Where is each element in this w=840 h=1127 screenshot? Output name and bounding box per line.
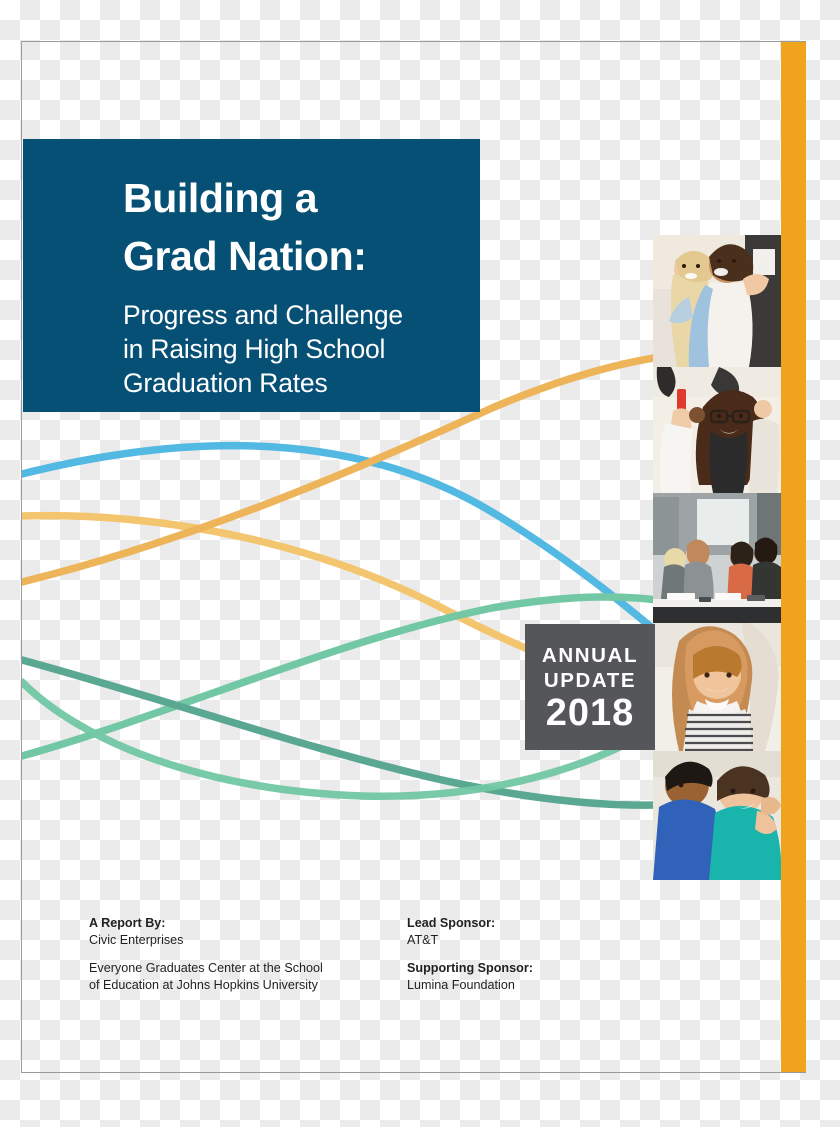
report-cover-page: Building a Grad Nation: Progress and Cha… xyxy=(21,41,806,1073)
report-title-line-2: Grad Nation: xyxy=(123,227,444,285)
credits-spacer-sponsors xyxy=(407,949,637,960)
report-by-secondary-line-2: of Education at Johns Hopkins University xyxy=(89,977,407,994)
photo-panel-students-group-study-table xyxy=(653,493,781,623)
lead-sponsor-label: Lead Sponsor: xyxy=(407,915,637,932)
title-block: Building a Grad Nation: Progress and Cha… xyxy=(23,139,480,412)
report-subtitle-line-2: in Raising High School xyxy=(123,333,444,367)
annual-update-badge: ANNUAL UPDATE 2018 xyxy=(525,624,655,750)
photo-panel-student-with-glasses-raising-hand xyxy=(653,367,781,493)
lead-sponsor-value: AT&T xyxy=(407,932,637,949)
report-by-secondary: Everyone Graduates Center at the School … xyxy=(89,960,407,994)
report-subtitle-line-3: Graduation Rates xyxy=(123,367,444,401)
supporting-sponsor-label: Supporting Sponsor: xyxy=(407,960,637,977)
credits-block: A Report By: Civic Enterprises Everyone … xyxy=(89,915,649,994)
report-by-value: Civic Enterprises xyxy=(89,932,407,949)
report-title-line-1: Building a xyxy=(123,169,444,227)
credits-spacer xyxy=(89,949,407,960)
report-by-label: A Report By: xyxy=(89,915,407,932)
report-subtitle-line-1: Progress and Challenge xyxy=(123,299,444,333)
supporting-sponsor-value: Lumina Foundation xyxy=(407,977,637,994)
credits-column-sponsors: Lead Sponsor: AT&T Supporting Sponsor: L… xyxy=(407,915,637,994)
photo-panel-student-curly-hair-portrait xyxy=(653,623,781,751)
report-subtitle: Progress and Challenge in Raising High S… xyxy=(123,299,444,401)
photo-panel-two-students-smiling xyxy=(653,751,781,880)
photo-strip xyxy=(653,235,781,880)
badge-year: 2018 xyxy=(546,694,635,734)
photo-panel-students-celebrating-hug xyxy=(653,235,781,367)
badge-line-update: UPDATE xyxy=(544,668,636,693)
credits-column-report-by: A Report By: Civic Enterprises Everyone … xyxy=(89,915,407,994)
report-by-secondary-line-1: Everyone Graduates Center at the School xyxy=(89,960,407,977)
badge-line-annual: ANNUAL xyxy=(542,643,638,668)
